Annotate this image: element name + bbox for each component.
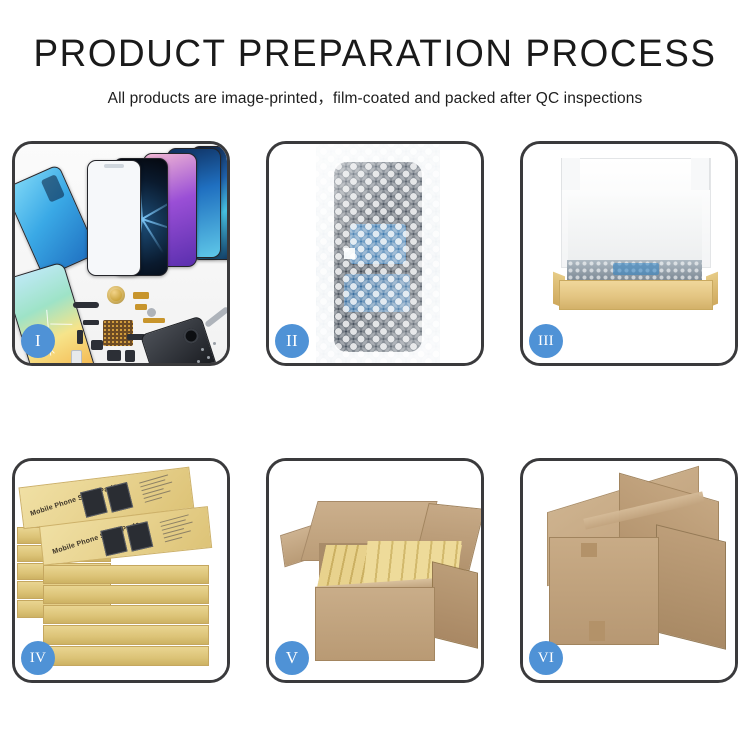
flex-cable-part-a bbox=[83, 320, 99, 325]
step-badge-2: II bbox=[275, 324, 309, 358]
wireless-coil-icon bbox=[107, 286, 125, 304]
box-inner-wall bbox=[568, 196, 702, 264]
carton-tab-upper bbox=[581, 543, 597, 557]
sealed-carton-side bbox=[656, 524, 726, 649]
page-subtitle: All products are image-printed，film-coat… bbox=[0, 75, 750, 108]
box-flap-left bbox=[561, 158, 580, 190]
process-steps-grid: I II bbox=[12, 141, 738, 683]
header: PRODUCT PREPARATION PROCESS All products… bbox=[0, 0, 750, 108]
process-step-panel-6: VI bbox=[520, 458, 738, 683]
speaker-part bbox=[107, 350, 121, 361]
step-badge-6: VI bbox=[529, 641, 563, 675]
flex-cable-part-b bbox=[77, 330, 83, 344]
vibrator-part bbox=[125, 350, 135, 362]
box-flap-right bbox=[691, 158, 710, 190]
product-preparation-infographic: PRODUCT PREPARATION PROCESS All products… bbox=[0, 0, 750, 750]
step-badge-5: V bbox=[275, 641, 309, 675]
process-step-panel-2: II bbox=[266, 141, 484, 366]
button-part bbox=[147, 308, 156, 317]
process-step-panel-5: V bbox=[266, 458, 484, 683]
camera-module-part bbox=[91, 340, 103, 350]
step-badge-4: IV bbox=[21, 641, 55, 675]
page-title: PRODUCT PREPARATION PROCESS bbox=[11, 0, 739, 75]
process-step-panel-1: I bbox=[12, 141, 230, 366]
gold-flex-part bbox=[133, 292, 149, 299]
carton-side-right bbox=[432, 561, 478, 648]
bubble-wrap-sheet bbox=[316, 144, 440, 363]
gold-strip-part bbox=[143, 318, 165, 323]
carton-tab-lower bbox=[589, 621, 605, 641]
earpiece-mesh-part bbox=[73, 302, 99, 308]
process-step-panel-3: III bbox=[520, 141, 738, 366]
step-badge-3: III bbox=[529, 324, 563, 358]
sim-tray-part bbox=[71, 350, 82, 363]
chip-array-icon bbox=[103, 320, 133, 346]
box-front-kraft-panel bbox=[559, 280, 713, 310]
phone-glass-panel-icon bbox=[87, 160, 141, 276]
carton-front bbox=[315, 587, 435, 661]
gold-bracket-part bbox=[135, 304, 147, 310]
step-badge-1: I bbox=[21, 324, 55, 358]
process-step-panel-4: Mobile Phone Spare Parts Mobile Phone Sp… bbox=[12, 458, 230, 683]
